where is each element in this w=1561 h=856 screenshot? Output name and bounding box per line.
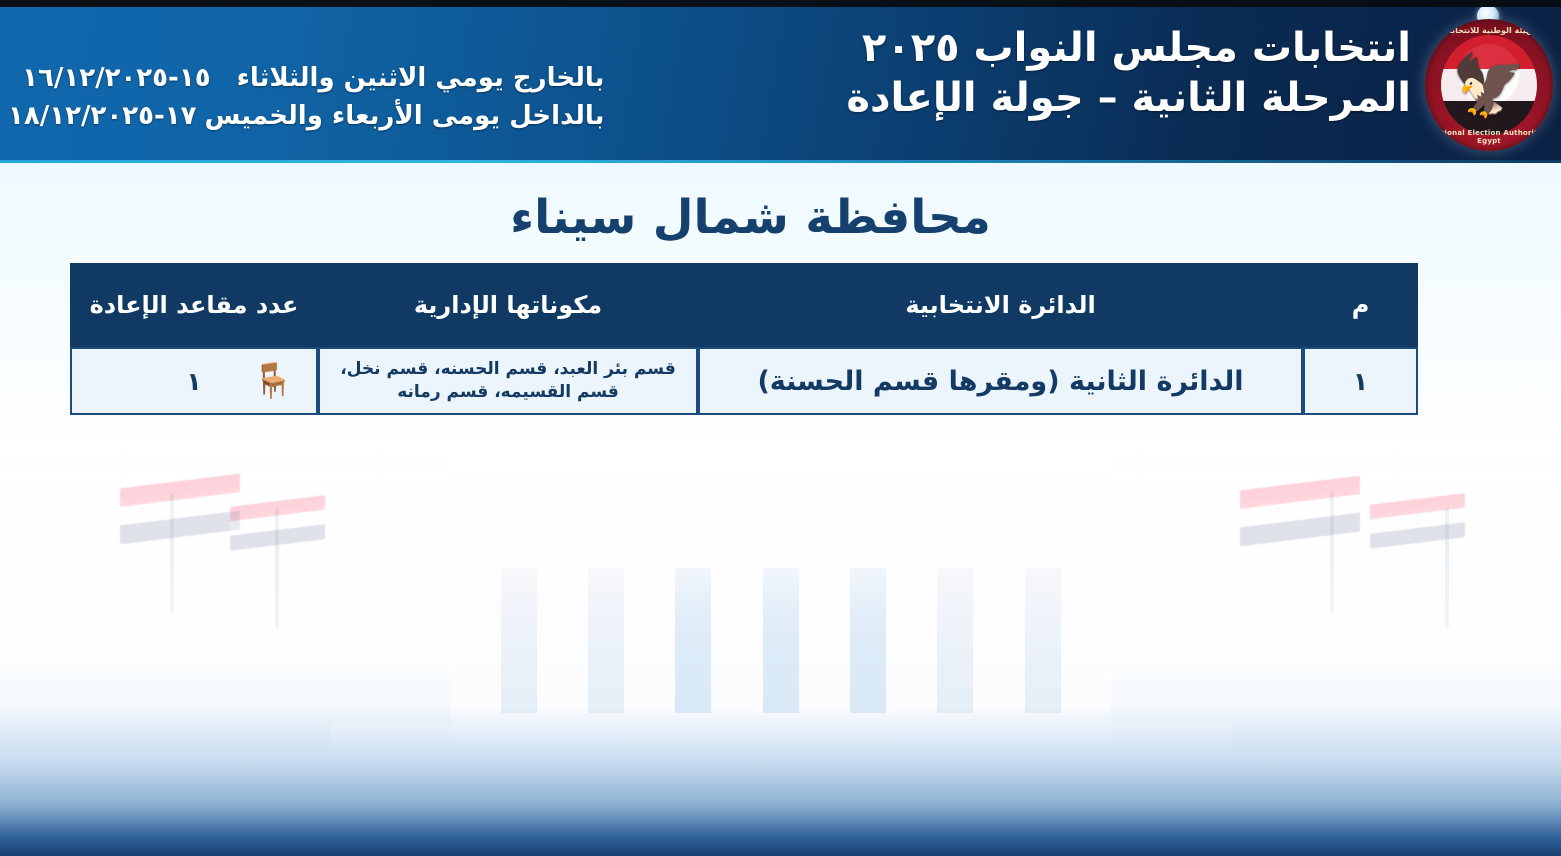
watermark-column xyxy=(501,568,537,713)
table-header-row: م الدائرة الانتخابية مكوناتها الإدارية ع… xyxy=(70,263,1418,347)
table-head: م الدائرة الانتخابية مكوناتها الإدارية ع… xyxy=(70,263,1418,347)
governorate-title: محافظة شمال سيناء xyxy=(0,190,1561,245)
cell-admin: قسم بئر العبد، قسم الحسنه، قسم نخل، قسم … xyxy=(318,347,698,415)
header-title-line2: المرحلة الثانية – جولة الإعادة xyxy=(846,73,1411,123)
header-title-block: انتخابات مجلس النواب ٢٠٢٥ المرحلة الثاني… xyxy=(846,23,1411,123)
logo-english-ring-text: National Election Authority · Egypt xyxy=(1425,129,1553,145)
cell-seats: 🪑 ١ xyxy=(70,347,318,415)
armchair-seat-icon: 🪑 xyxy=(252,364,294,398)
watermark-column xyxy=(1025,568,1061,713)
watermark-column xyxy=(763,568,799,713)
column-header-admin: مكوناتها الإدارية xyxy=(318,263,698,347)
seat-count-value: ١ xyxy=(186,367,201,396)
watermark-column xyxy=(675,568,711,713)
watermark-column xyxy=(588,568,624,713)
cell-index: ١ xyxy=(1303,347,1418,415)
eagle-icon: 🦅 xyxy=(1452,56,1527,116)
date-value-domestic: ١٧-١٨/١٢/٢٠٢٥ xyxy=(8,101,197,131)
page-header: انتخابات مجلس النواب ٢٠٢٥ المرحلة الثاني… xyxy=(0,5,1561,163)
logo-circle-icon: 🦅 الهيئة الوطنية للانتخابات National Ele… xyxy=(1425,19,1553,151)
header-title-line1: انتخابات مجلس النواب ٢٠٢٥ xyxy=(846,23,1411,73)
column-header-district: الدائرة الانتخابية xyxy=(698,263,1303,347)
column-header-index: م xyxy=(1303,263,1418,347)
date-value-abroad: ١٥-١٦/١٢/٢٠٢٥ xyxy=(22,63,211,93)
column-header-seats: عدد مقاعد الإعادة xyxy=(70,263,318,347)
top-edge-strip xyxy=(0,0,1561,7)
nea-logo: 🦅 الهيئة الوطنية للانتخابات National Ele… xyxy=(1425,19,1553,151)
watermark-column xyxy=(850,568,886,713)
date-row-abroad: بالخارج يومي الاثنين والثلاثاء١٥-١٦/١٢/٢… xyxy=(8,60,604,98)
date-label-domestic: بالداخل يومى الأربعاء والخميس xyxy=(205,101,605,131)
logo-arabic-ring-text: الهيئة الوطنية للانتخابات xyxy=(1425,26,1553,35)
header-dates-block: بالخارج يومي الاثنين والثلاثاء١٥-١٦/١٢/٢… xyxy=(8,60,604,135)
districts-table-wrapper: م الدائرة الانتخابية مكوناتها الإدارية ع… xyxy=(70,263,1418,415)
watermark-plaza-gradient xyxy=(0,706,1561,856)
districts-table: م الدائرة الانتخابية مكوناتها الإدارية ع… xyxy=(70,263,1418,415)
watermark-columns xyxy=(501,568,1061,713)
table-body: ١ الدائرة الثانية (ومقرها قسم الحسنة) قس… xyxy=(70,347,1418,415)
date-row-domestic: بالداخل يومى الأربعاء والخميس١٧-١٨/١٢/٢٠… xyxy=(8,98,604,136)
table-row[interactable]: ١ الدائرة الثانية (ومقرها قسم الحسنة) قس… xyxy=(70,347,1418,415)
date-label-abroad: بالخارج يومي الاثنين والثلاثاء xyxy=(237,63,605,93)
watermark-column xyxy=(937,568,973,713)
cell-district: الدائرة الثانية (ومقرها قسم الحسنة) xyxy=(698,347,1303,415)
